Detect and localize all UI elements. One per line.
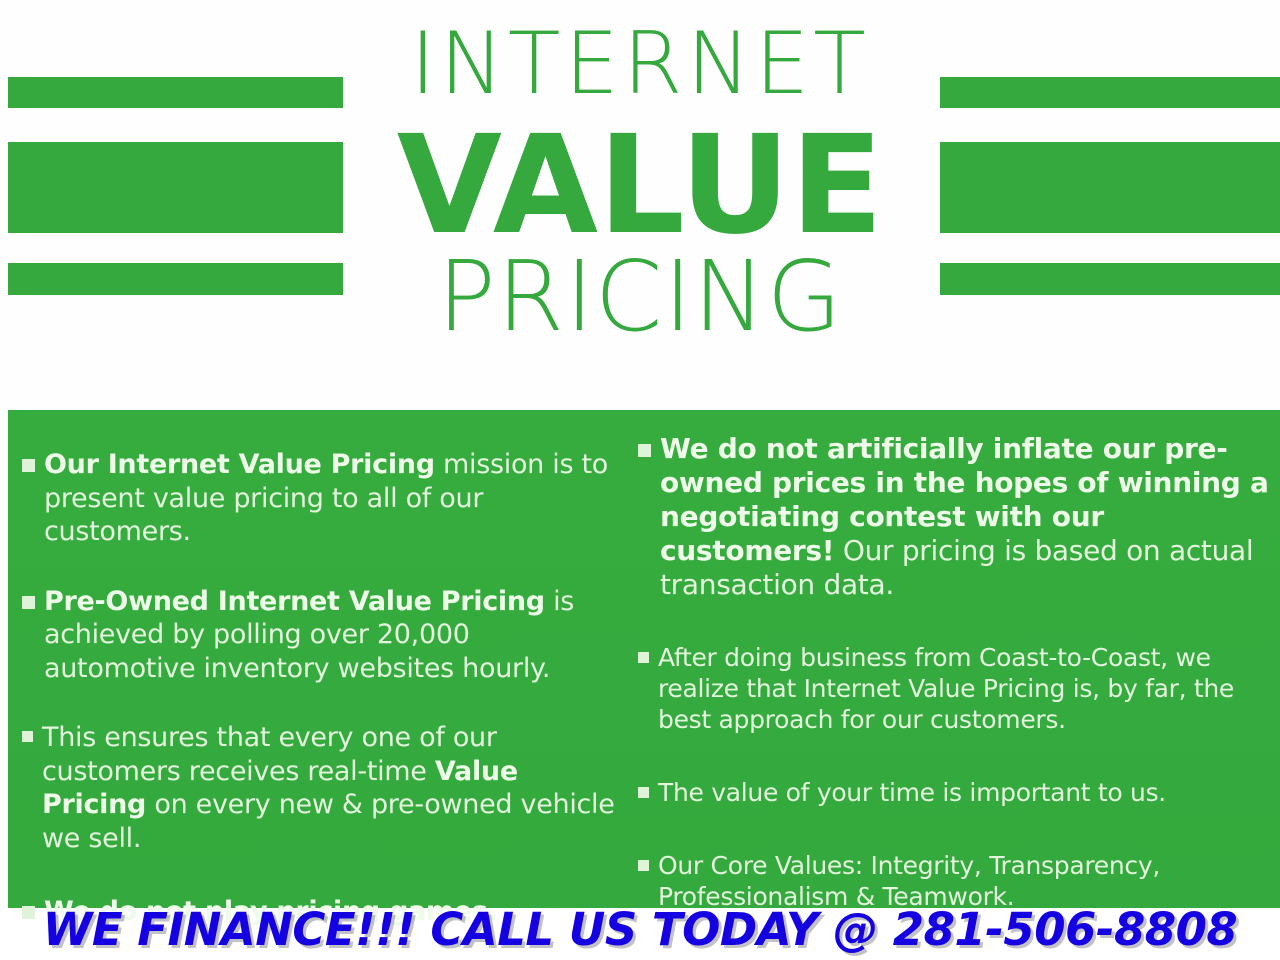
square-bullet-icon — [638, 860, 649, 871]
logo-header: INTERNET VALUE PRICING — [0, 0, 1280, 408]
list-item-text: This ensures that every one of our custo… — [42, 721, 616, 855]
square-bullet-icon — [638, 652, 649, 663]
list-item-text: We do not artificially inflate our pre-o… — [660, 432, 1270, 602]
logo-word-value: VALUE — [0, 118, 1280, 254]
advertisement-page: INTERNET VALUE PRICING Our Internet Valu… — [0, 0, 1280, 960]
panel-columns: Our Internet Value Pricing mission is to… — [8, 410, 1280, 908]
square-bullet-icon — [22, 596, 35, 609]
panel-column-left: Our Internet Value Pricing mission is to… — [8, 410, 630, 908]
list-item-text: Our Internet Value Pricing mission is to… — [44, 448, 616, 549]
list-item: Pre-Owned Internet Value Pricing is achi… — [22, 585, 616, 686]
list-item: Our Internet Value Pricing mission is to… — [22, 448, 616, 549]
finance-banner: WE FINANCE!!! CALL US TODAY @ 281-506-88… — [0, 900, 1280, 960]
value-pricing-panel: Our Internet Value Pricing mission is to… — [8, 410, 1280, 908]
logo-word-pricing: PRICING — [0, 248, 1280, 345]
square-bullet-icon — [22, 459, 35, 472]
list-item: We do not artificially inflate our pre-o… — [638, 432, 1270, 602]
list-item: This ensures that every one of our custo… — [22, 721, 616, 855]
list-item-text: Pre-Owned Internet Value Pricing is achi… — [44, 585, 616, 686]
square-bullet-icon — [638, 444, 651, 457]
list-item-text-bold: Pre-Owned Internet Value Pricing — [44, 586, 545, 617]
list-item: The value of your time is important to u… — [638, 777, 1270, 808]
list-item-text: The value of your time is important to u… — [658, 777, 1270, 808]
list-item-text: After doing business from Coast-to-Coast… — [658, 642, 1270, 735]
finance-banner-text[interactable]: WE FINANCE!!! CALL US TODAY @ 281-506-88… — [43, 905, 1238, 955]
logo-word-internet: INTERNET — [0, 21, 1280, 107]
square-bullet-icon — [22, 731, 33, 742]
list-item-text-bold: Our Internet Value Pricing — [44, 449, 435, 480]
list-item: After doing business from Coast-to-Coast… — [638, 642, 1270, 735]
square-bullet-icon — [638, 787, 649, 798]
panel-column-right: We do not artificially inflate our pre-o… — [630, 410, 1280, 908]
list-item-text-pre: This ensures that every one of our custo… — [42, 722, 497, 787]
